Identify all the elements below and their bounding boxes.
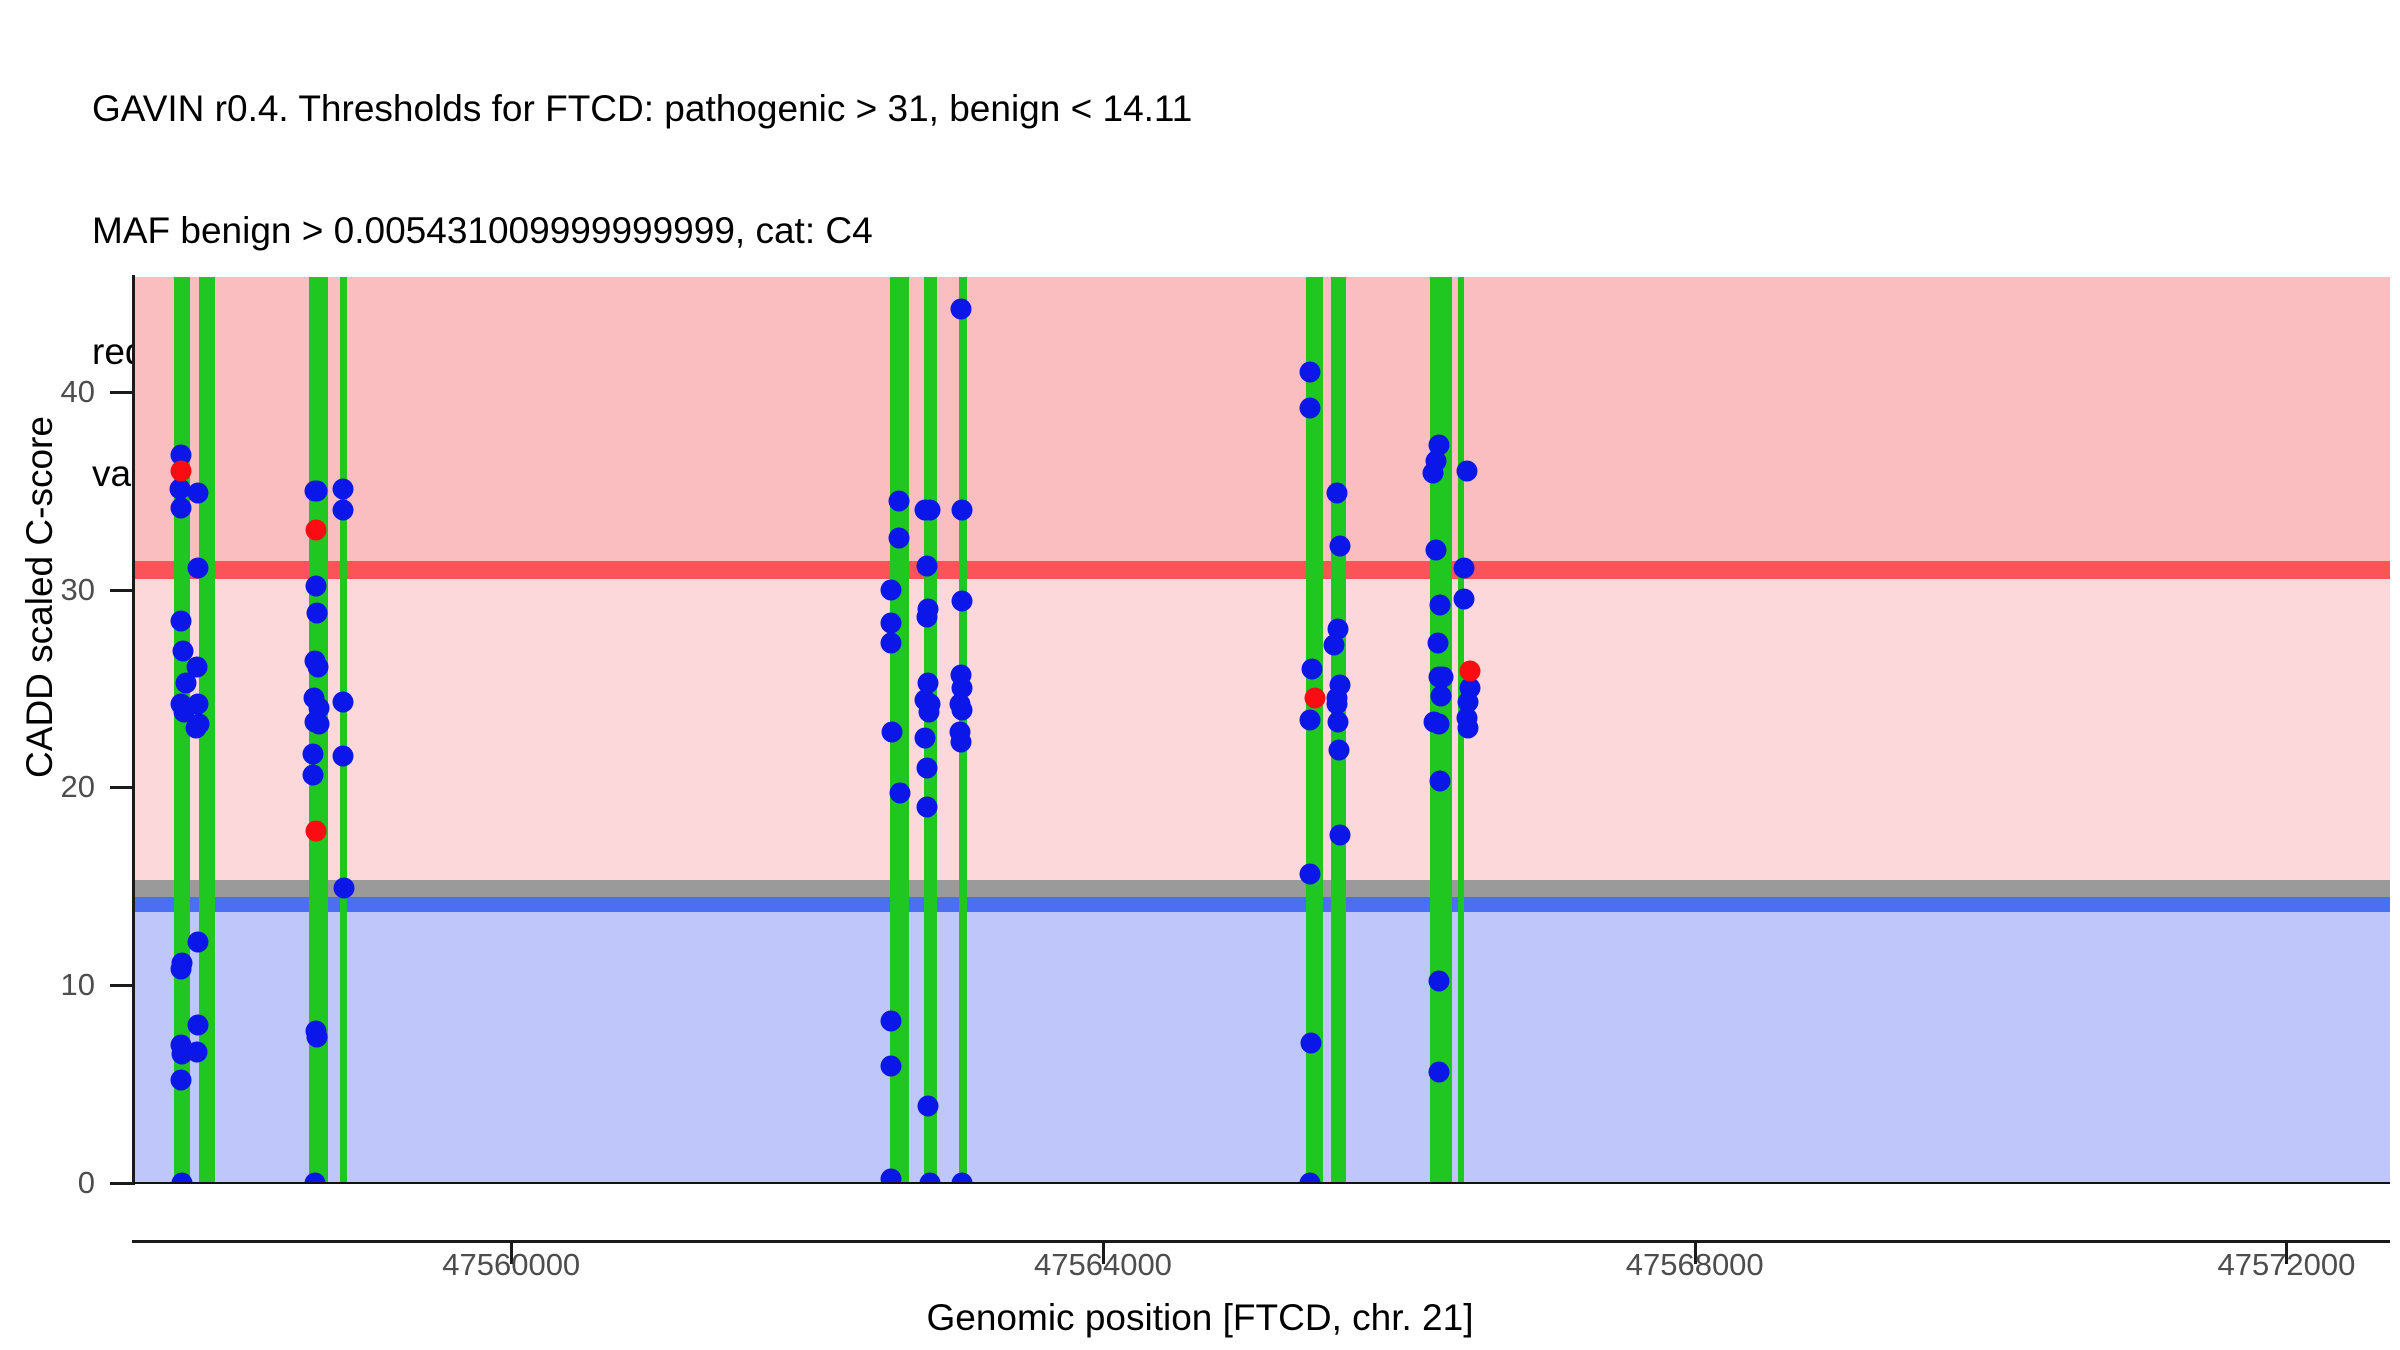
title-line-1: GAVIN r0.4. Thresholds for FTCD: pathoge… bbox=[92, 89, 2372, 130]
gnomad-variant-point bbox=[1301, 658, 1322, 679]
gnomad-variant-point bbox=[888, 490, 909, 511]
gnomad-variant-point bbox=[187, 694, 208, 715]
gnomad-variant-point bbox=[1458, 718, 1479, 739]
gnomad-variant-point bbox=[1428, 632, 1449, 653]
gnomad-variant-point bbox=[186, 718, 207, 739]
gnomad-variant-point bbox=[888, 528, 909, 549]
y-axis-title: CADD scaled C-score bbox=[19, 217, 61, 977]
y-tick bbox=[110, 589, 132, 592]
gnomad-variant-point bbox=[303, 743, 324, 764]
gnomad-variant-point bbox=[919, 500, 940, 521]
gnomad-variant-point bbox=[170, 959, 191, 980]
gnomad-variant-point bbox=[1422, 462, 1443, 483]
plot-root: GAVIN r0.4. Thresholds for FTCD: pathoge… bbox=[0, 0, 2400, 1350]
y-tick-label: 10 bbox=[61, 967, 95, 1003]
gnomad-variant-point bbox=[1431, 686, 1452, 707]
gnomad-variant-point bbox=[1453, 557, 1474, 578]
gnomad-variant-point bbox=[1428, 714, 1449, 735]
gnomad-variant-point bbox=[918, 1095, 939, 1116]
clinvar-pathogenic-point bbox=[170, 460, 191, 481]
clinvar-pathogenic-point bbox=[305, 520, 326, 541]
gnomad-variant-point bbox=[305, 575, 326, 596]
x-tick-label: 47568000 bbox=[1626, 1247, 1764, 1283]
y-tick bbox=[110, 1182, 132, 1185]
gnomad-variant-point bbox=[1328, 712, 1349, 733]
gnomad-variant-point bbox=[881, 1169, 902, 1183]
y-tick-label: 30 bbox=[61, 572, 95, 608]
gnomad-variant-point bbox=[889, 783, 910, 804]
y-tick bbox=[110, 786, 132, 789]
benign-threshold-band bbox=[134, 897, 2390, 912]
gnomad-variant-point bbox=[303, 765, 324, 786]
y-axis-line bbox=[132, 275, 135, 1185]
y-tick-label: 40 bbox=[61, 374, 95, 410]
gnomad-variant-point bbox=[171, 498, 192, 519]
fallback-threshold-band bbox=[134, 880, 2390, 897]
gnomad-variant-point bbox=[1433, 666, 1454, 687]
gnomad-variant-point bbox=[1428, 1062, 1449, 1083]
gnomad-variant-point bbox=[1300, 397, 1321, 418]
baseline bbox=[134, 1182, 2390, 1184]
gnomad-variant-point bbox=[881, 613, 902, 634]
gnomad-variant-point bbox=[882, 721, 903, 742]
clinvar-pathogenic-point bbox=[1459, 660, 1480, 681]
clinvar-pathogenic-point bbox=[1304, 688, 1325, 709]
gnomad-variant-point bbox=[1323, 634, 1344, 655]
gnomad-variant-point bbox=[1300, 361, 1321, 382]
title-line-2: MAF benign > 0.005431009999999999, cat: … bbox=[92, 211, 2372, 252]
gnomad-variant-point bbox=[952, 700, 973, 721]
gnomad-variant-point bbox=[1300, 710, 1321, 731]
gnomad-variant-point bbox=[334, 878, 355, 899]
gnomad-variant-point bbox=[952, 591, 973, 612]
vous-region bbox=[134, 579, 2390, 881]
x-axis-title: Genomic position [FTCD, chr. 21] bbox=[0, 1297, 2400, 1339]
x-tick-label: 47560000 bbox=[442, 1247, 580, 1283]
gnomad-variant-point bbox=[916, 797, 937, 818]
y-tick-label: 0 bbox=[78, 1165, 95, 1201]
gnomad-variant-point bbox=[950, 731, 971, 752]
gnomad-variant-point bbox=[880, 1010, 901, 1031]
gnomad-variant-point bbox=[1300, 864, 1321, 885]
gnomad-variant-point bbox=[952, 500, 973, 521]
y-tick-label: 20 bbox=[61, 769, 95, 805]
pathogenic-threshold-band bbox=[134, 561, 2390, 579]
gnomad-variant-point bbox=[880, 579, 901, 600]
gnomad-variant-point bbox=[1429, 595, 1450, 616]
gnomad-variant-point bbox=[1329, 824, 1350, 845]
gnomad-variant-point bbox=[919, 702, 940, 723]
y-tick bbox=[110, 391, 132, 394]
gnomad-variant-point bbox=[1300, 1032, 1321, 1053]
gnomad-variant-point bbox=[1428, 971, 1449, 992]
gnomad-variant-point bbox=[1430, 771, 1451, 792]
gnomad-variant-point bbox=[333, 478, 354, 499]
x-tick-label: 47572000 bbox=[2217, 1247, 2355, 1283]
gnomad-variant-point bbox=[881, 1056, 902, 1077]
gnomad-variant-point bbox=[187, 482, 208, 503]
gnomad-variant-point bbox=[188, 557, 209, 578]
gnomad-variant-point bbox=[950, 298, 971, 319]
gnomad-variant-point bbox=[170, 1070, 191, 1091]
gnomad-variant-point bbox=[916, 607, 937, 628]
gnomad-variant-point bbox=[187, 931, 208, 952]
gnomad-variant-point bbox=[1329, 536, 1350, 557]
plot-panel bbox=[134, 277, 2390, 1183]
gnomad-variant-point bbox=[308, 714, 329, 735]
gnomad-variant-point bbox=[307, 480, 328, 501]
gnomad-variant-point bbox=[1326, 482, 1347, 503]
gnomad-variant-point bbox=[1425, 539, 1446, 560]
exon-marker bbox=[340, 277, 347, 1183]
gnomad-variant-point bbox=[332, 500, 353, 521]
gnomad-variant-point bbox=[187, 1014, 208, 1035]
clinvar-pathogenic-point bbox=[305, 820, 326, 841]
gnomad-variant-point bbox=[1330, 674, 1351, 695]
gnomad-variant-point bbox=[916, 555, 937, 576]
gnomad-variant-point bbox=[1453, 589, 1474, 610]
gnomad-variant-point bbox=[1456, 460, 1477, 481]
pathogenic-region bbox=[134, 277, 2390, 570]
gnomad-variant-point bbox=[915, 727, 936, 748]
gnomad-variant-point bbox=[1328, 739, 1349, 760]
y-tick bbox=[110, 984, 132, 987]
gnomad-variant-point bbox=[171, 611, 192, 632]
gnomad-variant-point bbox=[332, 745, 353, 766]
benign-region bbox=[134, 912, 2390, 1183]
gnomad-variant-point bbox=[880, 632, 901, 653]
gnomad-variant-point bbox=[333, 692, 354, 713]
gnomad-variant-point bbox=[308, 656, 329, 677]
gnomad-variant-point bbox=[916, 757, 937, 778]
gnomad-variant-point bbox=[175, 672, 196, 693]
gnomad-variant-point bbox=[307, 603, 328, 624]
gnomad-variant-point bbox=[307, 1026, 328, 1047]
x-tick-label: 47564000 bbox=[1034, 1247, 1172, 1283]
x-axis-line bbox=[132, 1240, 2390, 1243]
gnomad-variant-point bbox=[186, 1042, 207, 1063]
